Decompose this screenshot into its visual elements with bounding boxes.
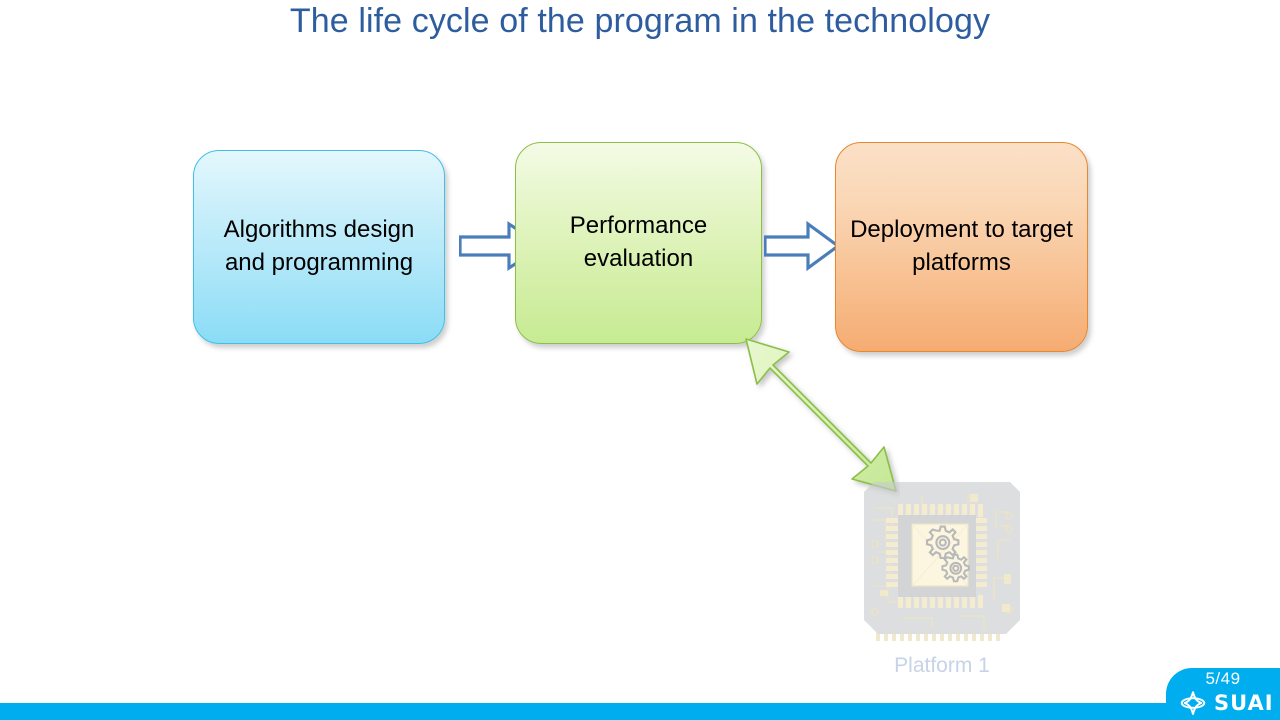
process-box-algorithms[interactable]: Algorithms design and programming bbox=[193, 150, 445, 344]
page-number: 5/49 bbox=[1166, 669, 1280, 689]
brand-wordmark: SUAI bbox=[1214, 691, 1274, 715]
process-box-performance-label: Performance evaluation bbox=[516, 210, 761, 276]
microchip-gears-icon bbox=[862, 482, 1022, 642]
process-box-deployment-label: Deployment to target platforms bbox=[836, 214, 1087, 280]
platform-caption: Platform 1 bbox=[862, 654, 1022, 678]
page-title: The life cycle of the program in the tec… bbox=[0, 2, 1280, 41]
footer-logo-block: 5/49 SUAI bbox=[1166, 668, 1280, 720]
process-box-algorithms-label: Algorithms design and programming bbox=[194, 214, 444, 280]
double-headed-diagonal-arrow-icon bbox=[740, 335, 900, 500]
process-box-deployment[interactable]: Deployment to target platforms bbox=[835, 142, 1088, 352]
right-block-arrow-icon-2 bbox=[764, 221, 840, 271]
suai-four-point-star-icon bbox=[1178, 688, 1208, 718]
process-box-performance[interactable]: Performance evaluation bbox=[515, 142, 762, 344]
bottom-accent-bar bbox=[0, 703, 1280, 720]
